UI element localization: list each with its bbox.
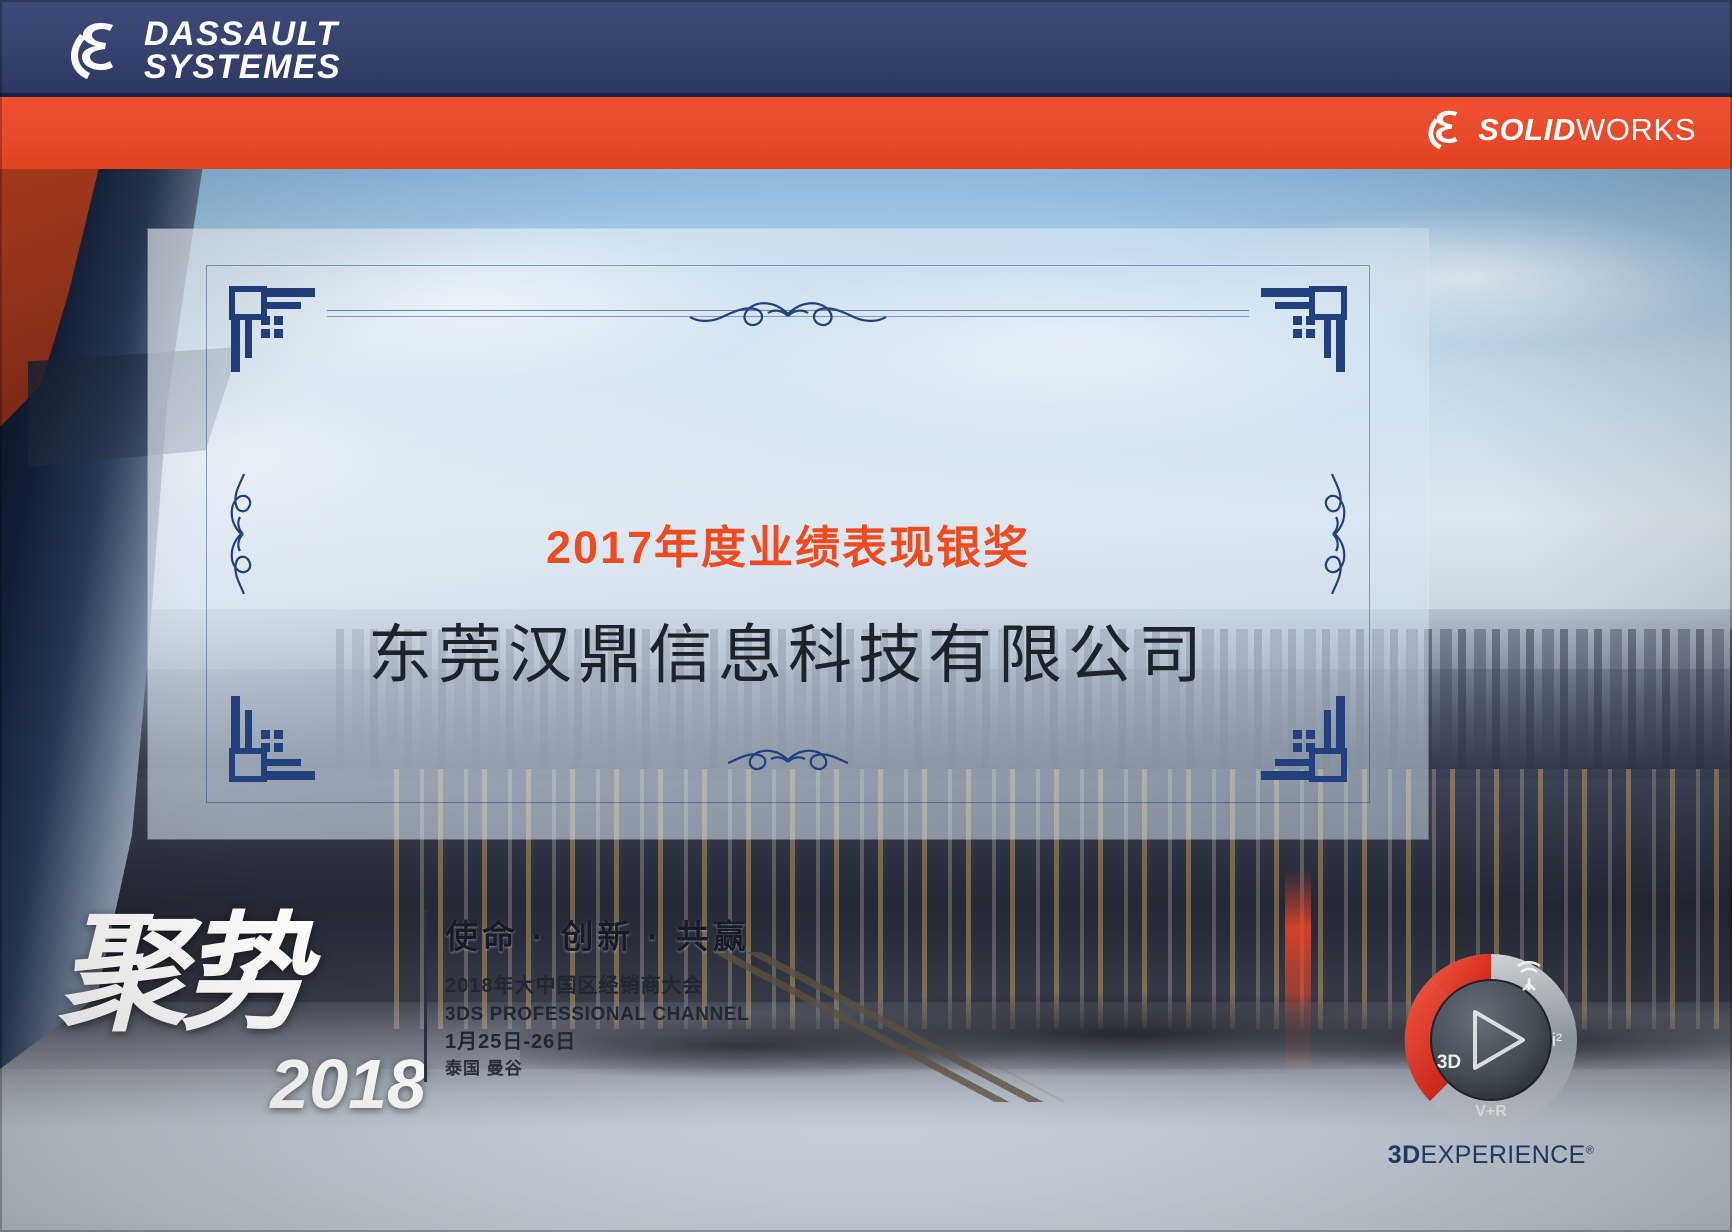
solidworks-bar: SOLIDWORKS [0, 97, 1732, 169]
3dexperience-compass-block: 3D i² V+R 3DEXPERIENCE® [1376, 950, 1606, 1170]
brand-line-2: SYSTEMES [144, 51, 341, 84]
event-info-block: 使命 · 创新 · 共赢 2018年大中国区经销商大会 3DS PROFESSI… [424, 910, 750, 1082]
3dexperience-label-bold: 3D [1388, 1141, 1421, 1169]
award-title: 2017年度业绩表现银奖 [148, 511, 1428, 576]
compass-label-vr: V+R [1475, 1103, 1507, 1120]
solidworks-label-bold: SOLID [1478, 112, 1576, 147]
solidworks-label-light: WORKS [1576, 112, 1696, 147]
corner-ornament-top-left [229, 286, 321, 378]
3ds-logo-icon [66, 20, 130, 82]
event-logo-chinese: 聚势 [58, 910, 302, 1038]
photo-background: 2017年度业绩表现银奖 东莞汉鼎信息科技有限公司 聚势 2018 使命 · 创… [0, 169, 1732, 1232]
3dexperience-compass[interactable]: 3D i² V+R [1401, 950, 1581, 1130]
3dexperience-label-light: EXPERIENCE [1421, 1141, 1586, 1169]
3dexperience-label-sup: ® [1586, 1145, 1595, 1157]
event-conference-name: 2018年大中国区经销商大会 [445, 972, 750, 1001]
event-location: 泰国 曼谷 [445, 1057, 750, 1082]
solidworks-logo: SOLIDWORKS [1425, 107, 1696, 153]
event-channel-name: 3DS PROFESSIONAL CHANNEL [445, 1001, 750, 1029]
dassault-systemes-logo: DASSAULT SYSTEMES [66, 18, 341, 83]
company-name: 东莞汉鼎信息科技有限公司 [148, 604, 1428, 696]
corner-ornament-top-right [1255, 286, 1347, 378]
compass-label-3d: 3D [1437, 1052, 1461, 1073]
corner-ornament-bottom-right [1255, 690, 1347, 782]
3ds-logo-icon [1425, 107, 1469, 153]
corner-ornament-bottom-left [229, 690, 321, 782]
compass-label-i2: i² [1552, 1030, 1562, 1050]
flourish-ornament-top-icon [558, 292, 1018, 332]
certificate-page: DASSAULT SYSTEMES SOLIDWORKS [0, 0, 1732, 1232]
compass-core [1431, 980, 1551, 1100]
brand-line-1: DASSAULT [144, 18, 341, 51]
top-brand-bar: DASSAULT SYSTEMES [0, 0, 1732, 97]
certificate-panel: 2017年度业绩表现银奖 东莞汉鼎信息科技有限公司 [148, 229, 1428, 839]
event-slogan: 使命 · 创新 · 共赢 [445, 910, 750, 958]
event-logo-year: 2018 [270, 1044, 426, 1124]
3dexperience-label: 3DEXPERIENCE® [1376, 1141, 1606, 1170]
event-date: 1月25日-26日 [445, 1028, 750, 1057]
event-calligraphy-logo: 聚势 2018 [52, 910, 412, 1110]
flourish-ornament-bottom-icon [638, 740, 938, 784]
